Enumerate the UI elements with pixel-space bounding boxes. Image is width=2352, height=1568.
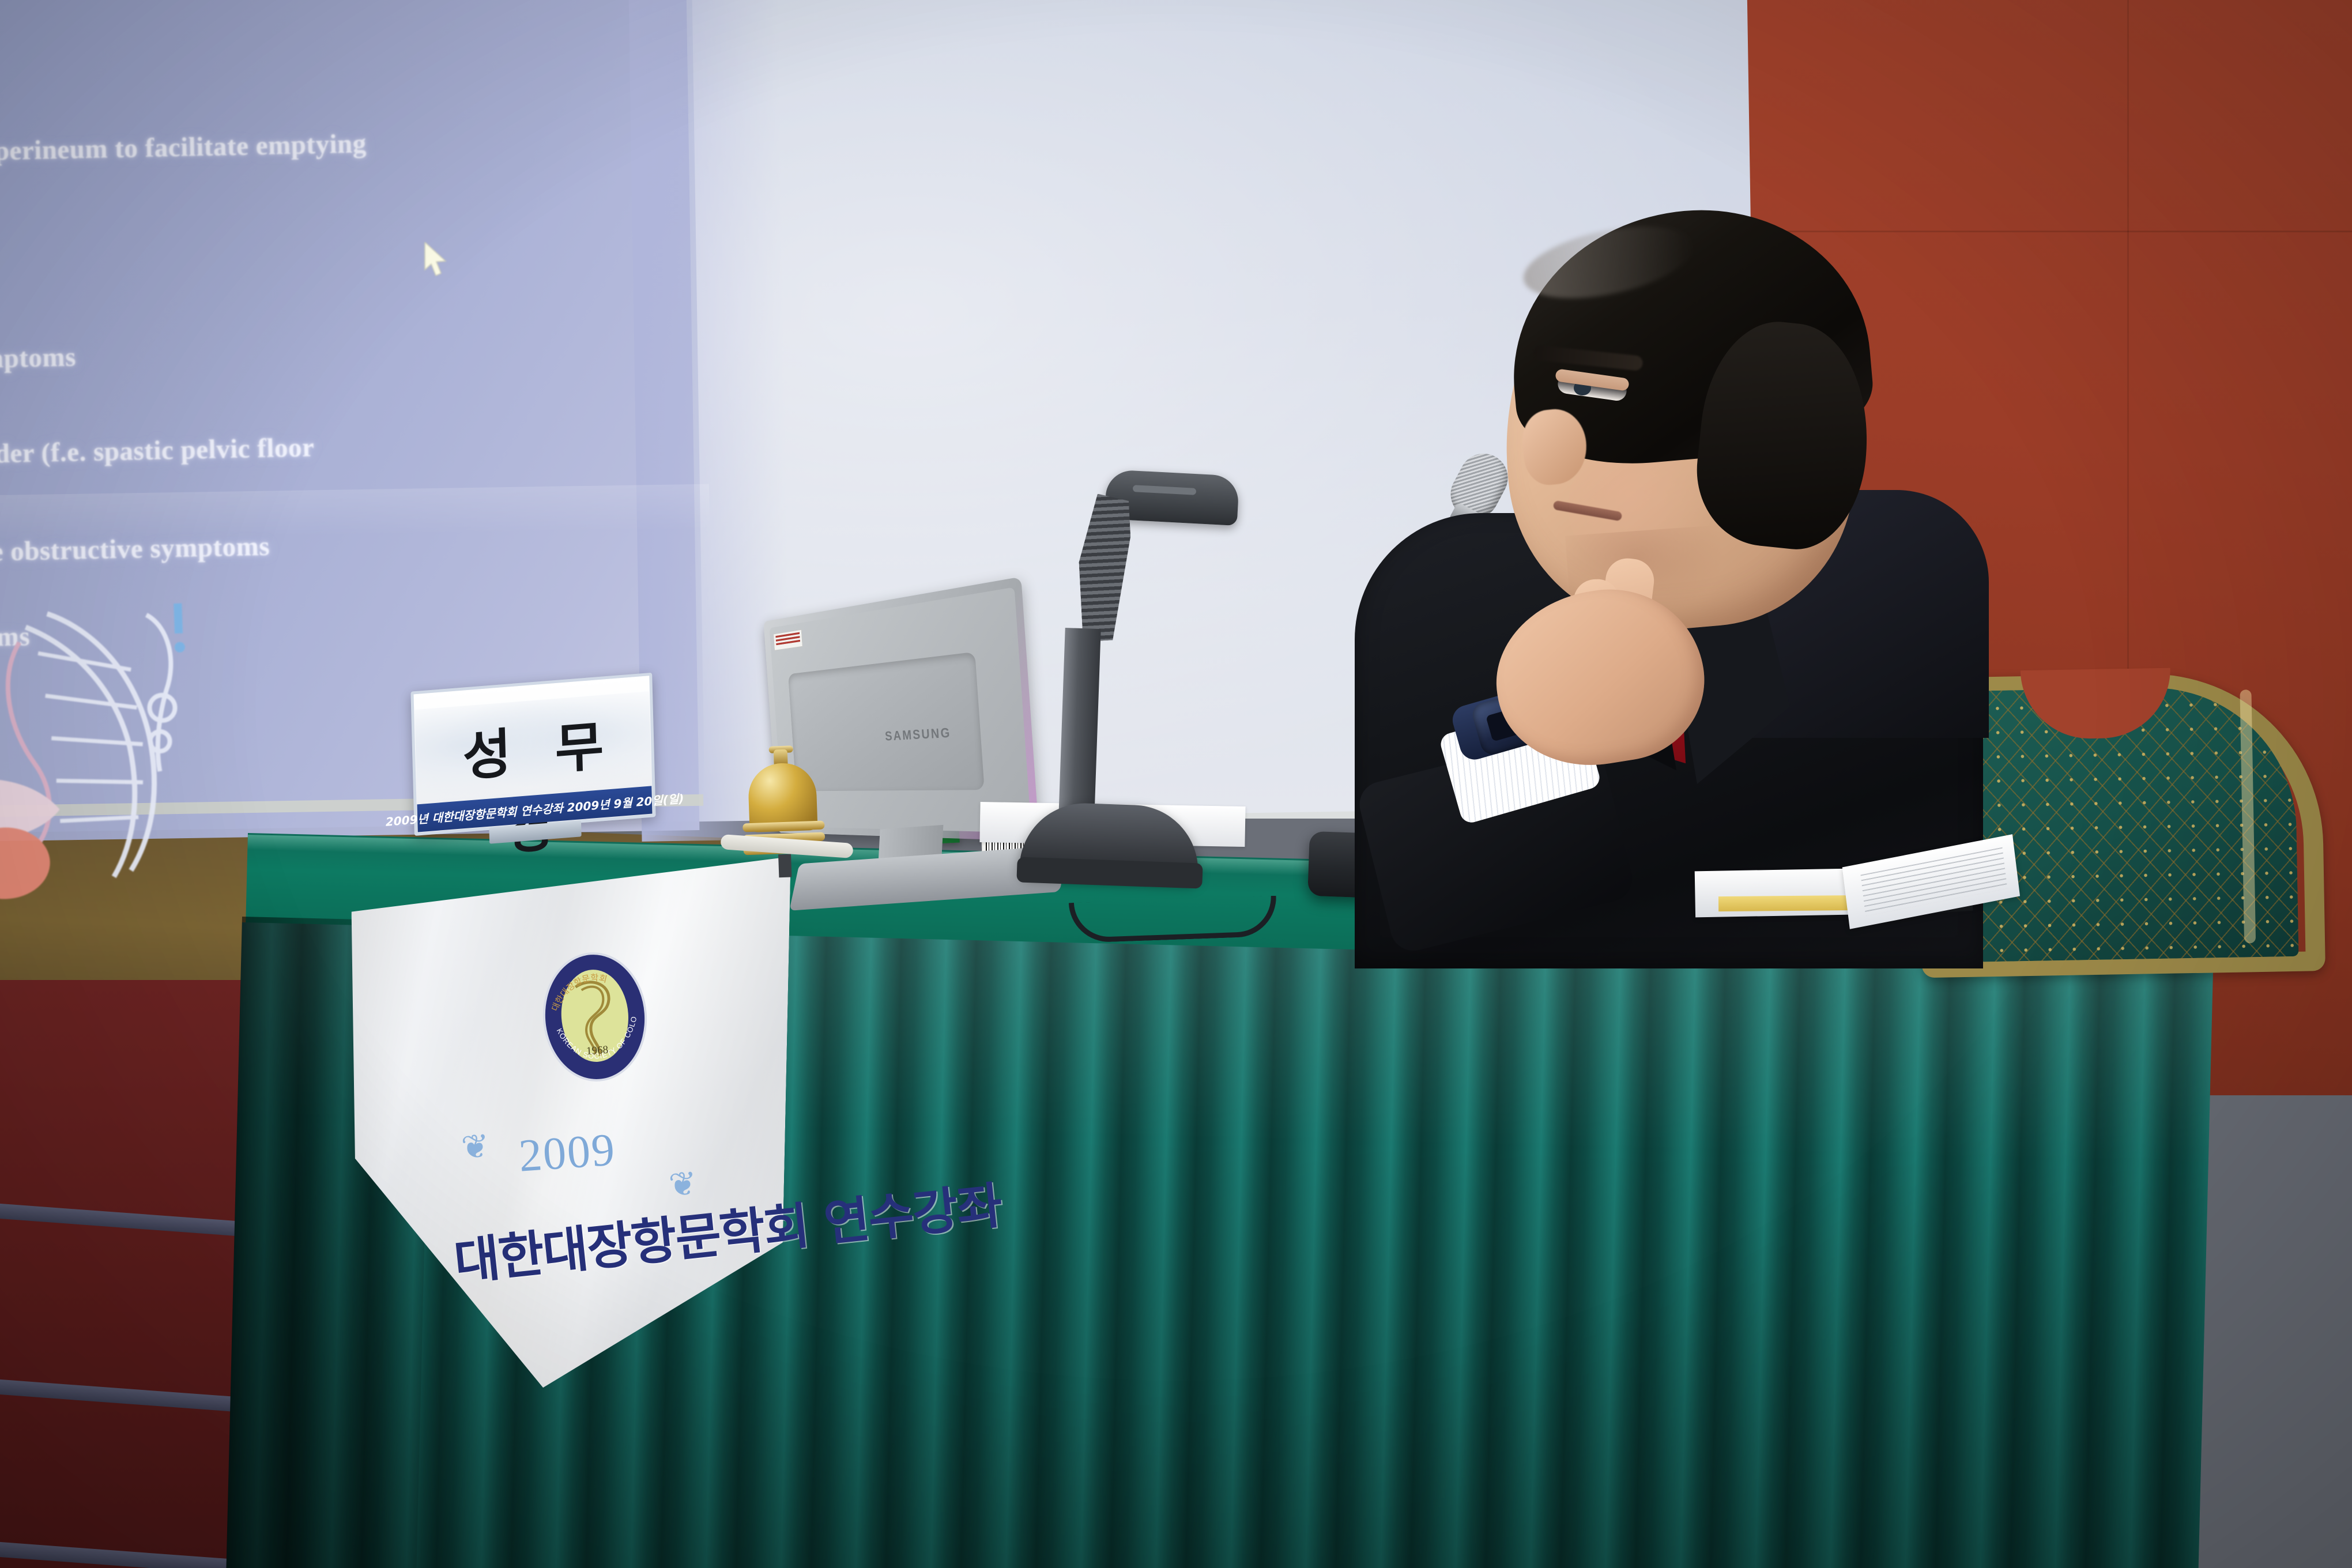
bell-mount <box>778 854 791 878</box>
conference-photo-scene: e vagina or perineum to facilitate empty… <box>0 0 2352 1568</box>
speaker-nameplate: 성 무 경 2009년 대한대장항문학회 연수강좌 2009년 9월 20일(일… <box>410 673 656 859</box>
slide-line-3: and the symptoms <box>0 341 76 376</box>
lamp-flexible-neck[interactable] <box>1075 492 1136 642</box>
svg-text:1968: 1968 <box>586 1044 608 1058</box>
hand-under-chin <box>1476 524 1757 790</box>
nameplate-name-text: 성 무 경 <box>412 699 657 872</box>
palm <box>1484 576 1716 779</box>
banner-swirl-left: ❦ <box>460 1126 491 1167</box>
society-logo: 대한대장항문학회 KOREAN SOCIETY OF COLOPROCTOLOG… <box>537 948 653 1086</box>
computer-monitor: SAMSUNG SAMSUNG <box>670 575 1060 900</box>
mouse-pointer-icon <box>424 242 448 278</box>
booklet-yellow-insert <box>1718 895 1863 911</box>
banner-year: 2009 <box>517 1124 617 1182</box>
seated-speaker <box>1320 219 1989 957</box>
monitor-brand-label: SAMSUNG <box>884 725 951 744</box>
gooseneck-podium-lamp[interactable] <box>1038 473 1280 911</box>
lamp-post <box>1058 628 1100 819</box>
open-program-booklet[interactable] <box>1694 847 2018 922</box>
